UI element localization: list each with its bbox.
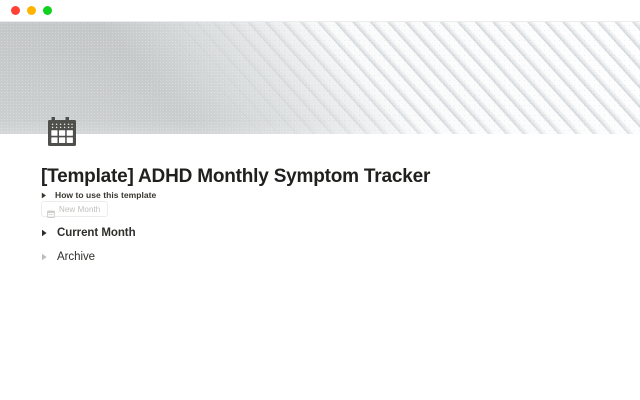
- calendar-icon[interactable]: [47, 116, 77, 147]
- toggle-label-archive: Archive: [57, 251, 95, 263]
- chevron-right-icon[interactable]: [41, 192, 52, 199]
- new-month-button[interactable]: New Month: [41, 201, 108, 217]
- close-button[interactable]: [11, 6, 20, 15]
- toggle-block-how-to-use[interactable]: How to use this template: [41, 190, 156, 200]
- toggle-label-current-month: Current Month: [57, 227, 136, 239]
- traffic-light-buttons: [11, 6, 52, 15]
- page-title[interactable]: [Template] ADHD Monthly Symptom Tracker: [41, 166, 430, 188]
- cover-bottom-fade: [0, 120, 640, 134]
- chevron-right-icon[interactable]: [41, 229, 52, 237]
- toggle-block-archive[interactable]: Archive: [41, 251, 95, 263]
- chevron-right-icon[interactable]: [41, 253, 52, 261]
- maximize-button[interactable]: [43, 6, 52, 15]
- page-cover-image[interactable]: [0, 22, 640, 134]
- toggle-label-how-to-use: How to use this template: [55, 190, 156, 200]
- minimize-button[interactable]: [27, 6, 36, 15]
- window-titlebar: [0, 0, 640, 22]
- calendar-icon: [47, 205, 55, 213]
- toggle-block-current-month[interactable]: Current Month: [41, 227, 136, 239]
- new-month-button-label: New Month: [59, 205, 100, 214]
- cover-grain-texture: [0, 22, 640, 134]
